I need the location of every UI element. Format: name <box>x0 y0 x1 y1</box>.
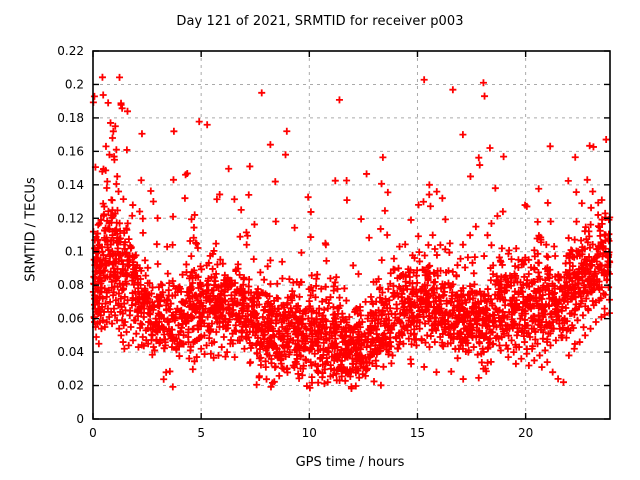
svg-text:0: 0 <box>76 412 84 426</box>
svg-text:0.16: 0.16 <box>57 144 84 158</box>
svg-text:0.08: 0.08 <box>57 278 84 292</box>
svg-text:20: 20 <box>518 426 533 440</box>
svg-text:0.1: 0.1 <box>65 245 84 259</box>
scatter-plot-canvas: 00.020.040.060.080.10.120.140.160.180.20… <box>0 0 640 480</box>
y-tick-labels: 00.020.040.060.080.10.120.140.160.180.20… <box>57 44 84 426</box>
svg-text:0: 0 <box>89 426 97 440</box>
svg-text:10: 10 <box>302 426 317 440</box>
svg-text:0.02: 0.02 <box>57 379 84 393</box>
svg-text:0.12: 0.12 <box>57 211 84 225</box>
svg-text:0.06: 0.06 <box>57 312 84 326</box>
svg-text:0.14: 0.14 <box>57 178 84 192</box>
svg-text:5: 5 <box>197 426 205 440</box>
data-points <box>90 74 613 392</box>
y-axis-label: SRMTID / TECUs <box>24 150 39 310</box>
svg-text:0.18: 0.18 <box>57 111 84 125</box>
svg-text:0.04: 0.04 <box>57 345 84 359</box>
svg-text:0.2: 0.2 <box>65 77 84 91</box>
chart-figure: Day 121 of 2021, SRMTID for receiver p00… <box>0 0 640 480</box>
x-tick-labels: 05101520 <box>89 426 533 440</box>
svg-text:0.22: 0.22 <box>57 44 84 58</box>
x-axis-label: GPS time / hours <box>0 455 640 470</box>
svg-text:15: 15 <box>410 426 425 440</box>
